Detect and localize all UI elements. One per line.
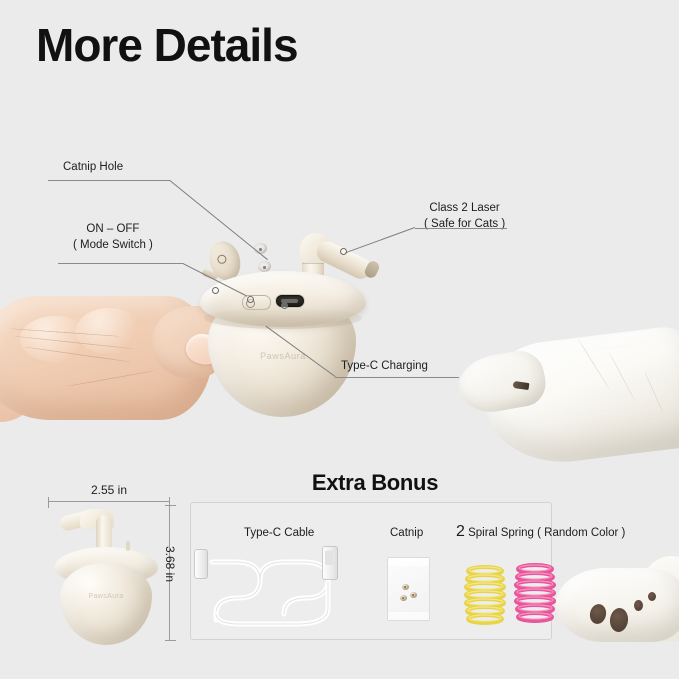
bonus-label-spring: 2 Spiral Spring ( Random Color )	[456, 522, 625, 542]
cat-paw-upper	[455, 330, 679, 490]
annotation-mode-switch-underline	[58, 263, 183, 264]
bonus-label-catnip: Catnip	[390, 527, 423, 539]
annotation-laser-underline	[415, 228, 507, 229]
usb-c-connector	[194, 549, 208, 579]
annotation-charging-point	[281, 302, 288, 309]
cat-paw-lower	[556, 556, 679, 666]
width-dimension-line	[48, 501, 170, 502]
annotation-laser-point	[340, 248, 347, 255]
silhouette-brand-mark: PawsAura	[76, 593, 136, 600]
type-c-cable-illustration	[200, 548, 370, 632]
annotation-charging-underline	[335, 377, 459, 378]
bonus-label-cable: Type-C Cable	[244, 527, 314, 539]
catnip-pouch	[387, 557, 430, 621]
product-detail-infographic: More Details	[0, 0, 679, 679]
annotation-catnip-hole-underline	[48, 180, 170, 181]
annotation-mode-switch: ON – OFF ( Mode Switch )	[73, 222, 153, 253]
annotation-type-c-charging: Type-C Charging	[341, 359, 428, 375]
width-dimension-label: 2.55 in	[48, 483, 170, 497]
bonus-section-title: Extra Bonus	[190, 470, 560, 496]
spiral-spring-pink	[512, 561, 558, 625]
annotation-mode-switch-point	[247, 296, 254, 303]
product-silhouette: PawsAura	[50, 507, 166, 643]
height-dimension-label: 3.68 in	[163, 546, 177, 582]
annotation-catnip-hole: Catnip Hole	[63, 160, 123, 176]
spiral-spring-yellow	[462, 563, 508, 627]
product-dimensions: PawsAura 2.55 in 3.68 in	[36, 487, 186, 657]
page-title: More Details	[36, 22, 298, 68]
usb-a-connector	[322, 546, 338, 580]
annotation-catnip-hole-point	[212, 287, 219, 294]
cat-toy-device: PawsAura	[196, 233, 376, 418]
